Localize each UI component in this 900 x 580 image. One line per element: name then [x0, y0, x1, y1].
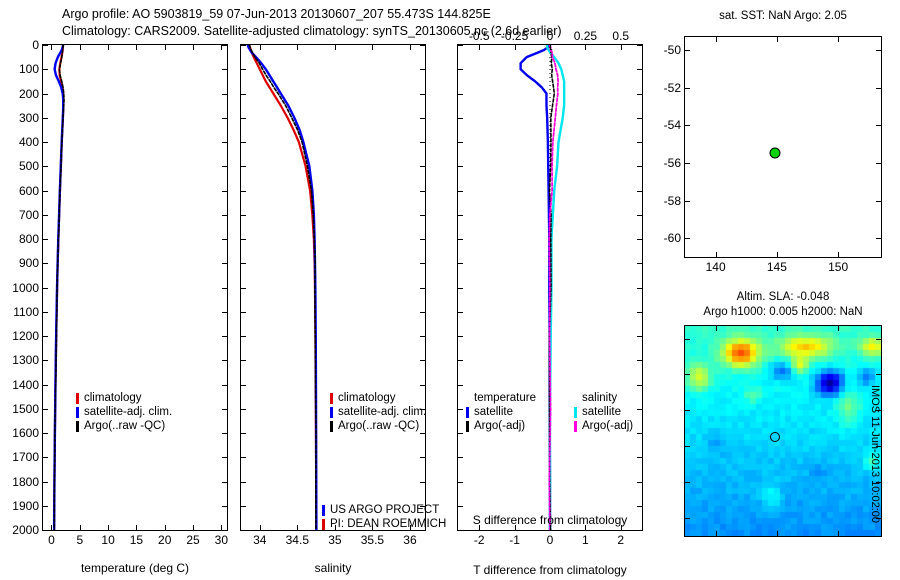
- legend-color-swatch: [574, 407, 577, 418]
- tick-mark: [43, 506, 48, 507]
- tick-mark: [777, 252, 778, 257]
- tick-mark: [838, 531, 839, 536]
- tick-mark: [43, 118, 48, 119]
- tick-mark: [637, 94, 642, 95]
- axis-tick-label: 30: [215, 533, 228, 547]
- axis-tick-label: 0: [48, 533, 55, 547]
- axis-tick-label: 300: [19, 111, 39, 125]
- axis-tick-label: 1900: [12, 499, 39, 513]
- tick-mark: [458, 94, 463, 95]
- axis-tick-label: 0: [32, 38, 39, 52]
- tick-mark: [685, 50, 690, 51]
- tick-mark: [637, 385, 642, 386]
- axis-tick-label: 2000: [12, 523, 39, 537]
- tick-mark: [876, 238, 881, 239]
- axis-tick-label: -1: [509, 533, 520, 547]
- tick-mark: [458, 385, 463, 386]
- axis-tick-label: 1700: [12, 450, 39, 464]
- tick-mark: [420, 482, 425, 483]
- tick-mark: [685, 163, 690, 164]
- axis-tick-label: 1800: [12, 475, 39, 489]
- axis-tick-label: 15: [130, 533, 143, 547]
- tick-mark: [876, 446, 881, 447]
- axis-tick-label: 600: [19, 184, 39, 198]
- tick-mark: [458, 239, 463, 240]
- tick-mark: [637, 263, 642, 264]
- tick-mark: [458, 215, 463, 216]
- axis-tick-label: 20: [158, 533, 171, 547]
- legend-item: climatology: [330, 391, 426, 405]
- tick-mark: [43, 263, 48, 264]
- tick-mark: [222, 457, 227, 458]
- axis-tick-label: 0.25: [574, 29, 597, 43]
- tick-mark: [222, 239, 227, 240]
- tick-mark: [43, 288, 48, 289]
- tick-mark: [165, 45, 166, 50]
- tick-mark: [637, 191, 642, 192]
- tick-mark: [221, 45, 222, 50]
- tick-mark: [241, 506, 246, 507]
- tick-mark: [637, 288, 642, 289]
- axis-tick-label: 35.5: [361, 533, 384, 547]
- tick-mark: [222, 385, 227, 386]
- tick-mark: [458, 336, 463, 337]
- tick-mark: [637, 482, 642, 483]
- salinity-plot-panel: 3434.53535.536: [240, 44, 426, 531]
- axis-tick-label: -0.5: [469, 29, 490, 43]
- axis-tick-label: 1500: [12, 402, 39, 416]
- legend-color-swatch: [330, 393, 333, 404]
- tick-mark: [43, 45, 48, 46]
- tick-mark: [685, 410, 690, 411]
- axis-tick-label: 10: [101, 533, 114, 547]
- axis-tick-label: 1300: [12, 353, 39, 367]
- axis-tick-label: -0.25: [501, 29, 528, 43]
- legend-item: Argo(-adj): [466, 419, 536, 433]
- tick-mark: [458, 433, 463, 434]
- tick-mark: [458, 506, 463, 507]
- tick-mark: [241, 118, 246, 119]
- tick-mark: [222, 69, 227, 70]
- project-swatch-blue: [322, 505, 325, 516]
- tick-mark: [43, 433, 48, 434]
- tick-mark: [838, 326, 839, 331]
- tick-mark: [193, 45, 194, 50]
- tick-mark: [136, 45, 137, 50]
- temperature-legend: climatologysatellite-adj. clim.Argo(..ra…: [76, 391, 172, 433]
- tick-mark: [241, 530, 246, 531]
- tick-mark: [420, 457, 425, 458]
- temperature-plot-panel: 0100200300400500600700800900100011001200…: [42, 44, 228, 531]
- tick-mark: [777, 37, 778, 42]
- axis-tick-label: -52: [664, 81, 681, 95]
- difference-t-axis-label: T difference from climatology: [473, 563, 627, 577]
- sla-map-title-line2: Argo h1000: 0.005 h2000: NaN: [703, 306, 862, 318]
- temperature-axis-label: temperature (deg C): [81, 561, 189, 575]
- tick-mark: [716, 252, 717, 257]
- tick-mark: [420, 45, 425, 46]
- salinity-profile-curves: [241, 45, 425, 530]
- legend-label: satellite: [474, 405, 513, 419]
- tick-mark: [297, 525, 298, 530]
- tick-mark: [80, 45, 81, 50]
- tick-mark: [637, 530, 642, 531]
- tick-mark: [222, 530, 227, 531]
- tick-mark: [222, 433, 227, 434]
- tick-mark: [420, 191, 425, 192]
- project-swatch-red: [322, 519, 325, 530]
- tick-mark: [458, 69, 463, 70]
- legend-label: climatology: [84, 391, 142, 405]
- tick-mark: [222, 215, 227, 216]
- tick-mark: [241, 409, 246, 410]
- axis-tick-label: 200: [19, 87, 39, 101]
- tick-mark: [685, 518, 690, 519]
- axis-tick-label: 34: [253, 533, 266, 547]
- tick-mark: [458, 166, 463, 167]
- tick-mark: [222, 506, 227, 507]
- legend-label: Argo(-adj): [474, 419, 525, 433]
- axis-tick-label: -56: [664, 156, 681, 170]
- tick-mark: [621, 45, 622, 50]
- tick-mark: [637, 166, 642, 167]
- tick-mark: [637, 69, 642, 70]
- legend-label: Argo(-adj): [582, 419, 633, 433]
- tick-mark: [410, 45, 411, 50]
- tick-mark: [876, 339, 881, 340]
- tick-mark: [241, 263, 246, 264]
- legend-label: climatology: [338, 391, 396, 405]
- tick-mark: [420, 288, 425, 289]
- sst-map-panel: 140145150-50-52-54-56-58-60: [684, 36, 882, 258]
- axis-tick-label: 1200: [12, 329, 39, 343]
- tick-mark: [241, 45, 246, 46]
- tick-mark: [637, 506, 642, 507]
- tick-mark: [108, 45, 109, 50]
- tick-mark: [637, 336, 642, 337]
- tick-mark: [550, 45, 551, 50]
- tick-mark: [876, 374, 881, 375]
- axis-tick-label: 34.5: [286, 533, 309, 547]
- tick-mark: [193, 525, 194, 530]
- tick-mark: [241, 482, 246, 483]
- tick-mark: [637, 142, 642, 143]
- tick-mark: [515, 45, 516, 50]
- argo-position-marker: [769, 148, 780, 159]
- tick-mark: [458, 482, 463, 483]
- tick-mark: [876, 518, 881, 519]
- tick-mark: [685, 339, 690, 340]
- tick-mark: [637, 215, 642, 216]
- tick-mark: [458, 360, 463, 361]
- tick-mark: [222, 118, 227, 119]
- tick-mark: [372, 45, 373, 50]
- axis-tick-label: -50: [664, 43, 681, 57]
- tick-mark: [335, 45, 336, 50]
- tick-mark: [260, 45, 261, 50]
- axis-tick-label: -2: [474, 533, 485, 547]
- legend-item: Argo(..raw -QC): [76, 419, 172, 433]
- tick-mark: [420, 336, 425, 337]
- tick-mark: [241, 142, 246, 143]
- axis-tick-label: 1: [582, 533, 589, 547]
- tick-mark: [420, 142, 425, 143]
- tick-mark: [222, 312, 227, 313]
- difference-s-axis-label: S difference from climatology: [473, 513, 628, 527]
- difference-legend-salinity: salinitysatelliteArgo(-adj): [574, 391, 633, 433]
- axis-tick-label: 900: [19, 256, 39, 270]
- legend-color-swatch: [330, 421, 333, 432]
- axis-tick-label: 800: [19, 232, 39, 246]
- tick-mark: [420, 433, 425, 434]
- tick-mark: [51, 525, 52, 530]
- tick-mark: [838, 252, 839, 257]
- tick-mark: [685, 238, 690, 239]
- difference-legend-temperature: temperaturesatelliteArgo(-adj): [466, 391, 536, 433]
- tick-mark: [458, 142, 463, 143]
- tick-mark: [43, 530, 48, 531]
- tick-mark: [685, 88, 690, 89]
- difference-profile-curves: [458, 45, 642, 530]
- tick-mark: [222, 288, 227, 289]
- tick-mark: [458, 530, 463, 531]
- legend-color-swatch: [76, 407, 79, 418]
- tick-mark: [420, 166, 425, 167]
- legend-item: satellite: [574, 405, 633, 419]
- tick-mark: [685, 374, 690, 375]
- tick-mark: [43, 215, 48, 216]
- tick-mark: [136, 525, 137, 530]
- axis-tick-label: 700: [19, 208, 39, 222]
- tick-mark: [241, 288, 246, 289]
- legend-item: Argo(..raw -QC): [330, 419, 426, 433]
- tick-mark: [221, 525, 222, 530]
- tick-mark: [241, 385, 246, 386]
- axis-tick-label: 1400: [12, 378, 39, 392]
- tick-mark: [777, 531, 778, 536]
- imos-credit: IMOS 11-Jun-2013 10:02:00: [869, 385, 881, 523]
- tick-mark: [685, 201, 690, 202]
- project-line2: PI: DEAN ROEMMICH: [330, 517, 446, 531]
- legend-label: satellite: [582, 405, 621, 419]
- tick-mark: [716, 326, 717, 331]
- axis-tick-label: 35: [328, 533, 341, 547]
- tick-mark: [222, 336, 227, 337]
- tick-mark: [43, 457, 48, 458]
- tick-mark: [222, 94, 227, 95]
- tick-mark: [685, 446, 690, 447]
- legend-title: salinity: [574, 391, 633, 405]
- sst-map-title: sat. SST: NaN Argo: 2.05: [719, 10, 847, 22]
- legend-title: temperature: [466, 391, 536, 405]
- tick-mark: [777, 326, 778, 331]
- axis-tick-label: 36: [403, 533, 416, 547]
- tick-mark: [637, 409, 642, 410]
- tick-mark: [876, 125, 881, 126]
- axis-tick-label: 100: [19, 62, 39, 76]
- axis-tick-label: 5: [76, 533, 83, 547]
- tick-mark: [241, 166, 246, 167]
- tick-mark: [479, 45, 480, 50]
- tick-mark: [260, 525, 261, 530]
- tick-mark: [876, 482, 881, 483]
- tick-mark: [51, 45, 52, 50]
- salinity-legend: climatologysatellite-adj. clim.Argo(..ra…: [330, 391, 426, 433]
- tick-mark: [222, 142, 227, 143]
- tick-mark: [241, 360, 246, 361]
- tick-mark: [43, 409, 48, 410]
- page-title-line1: Argo profile: AO 5903819_59 07-Jun-2013 …: [62, 7, 491, 21]
- project-credit: US ARGO PROJECT PI: DEAN ROEMMICH: [322, 503, 446, 531]
- axis-tick-label: 0: [547, 533, 554, 547]
- tick-mark: [458, 288, 463, 289]
- tick-mark: [241, 239, 246, 240]
- tick-mark: [685, 482, 690, 483]
- axis-tick-label: -54: [664, 118, 681, 132]
- tick-mark: [876, 201, 881, 202]
- legend-color-swatch: [330, 407, 333, 418]
- tick-mark: [222, 409, 227, 410]
- tick-mark: [420, 312, 425, 313]
- tick-mark: [685, 125, 690, 126]
- axis-tick-label: 150: [828, 260, 848, 274]
- legend-item: climatology: [76, 391, 172, 405]
- tick-mark: [43, 69, 48, 70]
- legend-item: Argo(-adj): [574, 419, 633, 433]
- axis-tick-label: 1100: [13, 305, 39, 319]
- legend-label: Argo(..raw -QC): [84, 419, 165, 433]
- tick-mark: [43, 191, 48, 192]
- tick-mark: [876, 163, 881, 164]
- tick-mark: [838, 37, 839, 42]
- axis-tick-label: 0.5: [612, 29, 629, 43]
- tick-mark: [222, 45, 227, 46]
- tick-mark: [43, 385, 48, 386]
- axis-tick-label: 500: [19, 159, 39, 173]
- tick-mark: [222, 482, 227, 483]
- legend-color-swatch: [466, 421, 469, 432]
- tick-mark: [637, 239, 642, 240]
- tick-mark: [458, 263, 463, 264]
- legend-item: satellite-adj. clim.: [76, 405, 172, 419]
- tick-mark: [716, 531, 717, 536]
- tick-mark: [420, 118, 425, 119]
- axis-tick-label: 400: [19, 135, 39, 149]
- temperature-profile-curves: [43, 45, 227, 530]
- tick-mark: [43, 94, 48, 95]
- argo-position-ring-marker: [770, 432, 780, 442]
- legend-label: satellite-adj. clim.: [338, 405, 426, 419]
- tick-mark: [637, 45, 642, 46]
- tick-mark: [637, 118, 642, 119]
- axis-tick-label: -58: [664, 194, 681, 208]
- tick-mark: [637, 360, 642, 361]
- tick-mark: [43, 336, 48, 337]
- tick-mark: [222, 191, 227, 192]
- legend-label: satellite-adj. clim.: [84, 405, 172, 419]
- tick-mark: [222, 263, 227, 264]
- tick-mark: [458, 457, 463, 458]
- legend-item: satellite: [466, 405, 536, 419]
- tick-mark: [458, 45, 463, 46]
- tick-mark: [241, 69, 246, 70]
- tick-mark: [458, 118, 463, 119]
- tick-mark: [420, 69, 425, 70]
- tick-mark: [241, 215, 246, 216]
- sla-heatmap: [685, 326, 881, 536]
- tick-mark: [222, 166, 227, 167]
- tick-mark: [420, 239, 425, 240]
- axis-tick-label: 25: [186, 533, 199, 547]
- tick-mark: [458, 191, 463, 192]
- salinity-axis-label: salinity: [315, 561, 352, 575]
- legend-item: satellite-adj. clim.: [330, 405, 426, 419]
- tick-mark: [241, 94, 246, 95]
- tick-mark: [43, 312, 48, 313]
- tick-mark: [241, 457, 246, 458]
- tick-mark: [876, 50, 881, 51]
- tick-mark: [80, 525, 81, 530]
- sla-map-panel: 140145150-50-52-54-56-58-60: [684, 325, 882, 537]
- tick-mark: [876, 410, 881, 411]
- tick-mark: [420, 94, 425, 95]
- tick-mark: [222, 360, 227, 361]
- legend-color-swatch: [466, 407, 469, 418]
- axis-tick-label: 1600: [12, 426, 39, 440]
- tick-mark: [43, 166, 48, 167]
- axis-tick-label: 0: [547, 29, 554, 43]
- tick-mark: [420, 215, 425, 216]
- tick-mark: [458, 312, 463, 313]
- axis-tick-label: 145: [767, 260, 787, 274]
- legend-color-swatch: [76, 421, 79, 432]
- axis-tick-label: 140: [706, 260, 726, 274]
- tick-mark: [165, 525, 166, 530]
- tick-mark: [43, 482, 48, 483]
- tick-mark: [585, 45, 586, 50]
- tick-mark: [637, 433, 642, 434]
- legend-label: Argo(..raw -QC): [338, 419, 419, 433]
- tick-mark: [108, 525, 109, 530]
- tick-mark: [43, 360, 48, 361]
- difference-plot-panel: -2-1012-0.5-0.2500.250.5: [457, 44, 643, 531]
- tick-mark: [637, 457, 642, 458]
- legend-color-swatch: [76, 393, 79, 404]
- axis-tick-label: -60: [664, 231, 681, 245]
- tick-mark: [43, 239, 48, 240]
- tick-mark: [297, 45, 298, 50]
- tick-mark: [241, 336, 246, 337]
- tick-mark: [241, 312, 246, 313]
- tick-mark: [241, 191, 246, 192]
- project-line1: US ARGO PROJECT: [330, 503, 439, 517]
- axis-tick-label: 1000: [12, 281, 39, 295]
- axis-tick-label: 2: [617, 533, 624, 547]
- tick-mark: [637, 312, 642, 313]
- tick-mark: [420, 360, 425, 361]
- legend-color-swatch: [574, 421, 577, 432]
- tick-mark: [420, 385, 425, 386]
- tick-mark: [458, 409, 463, 410]
- sla-map-title-line1: Altim. SLA: -0.048: [737, 291, 830, 303]
- tick-mark: [43, 142, 48, 143]
- tick-mark: [420, 263, 425, 264]
- tick-mark: [241, 433, 246, 434]
- tick-mark: [876, 88, 881, 89]
- tick-mark: [716, 37, 717, 42]
